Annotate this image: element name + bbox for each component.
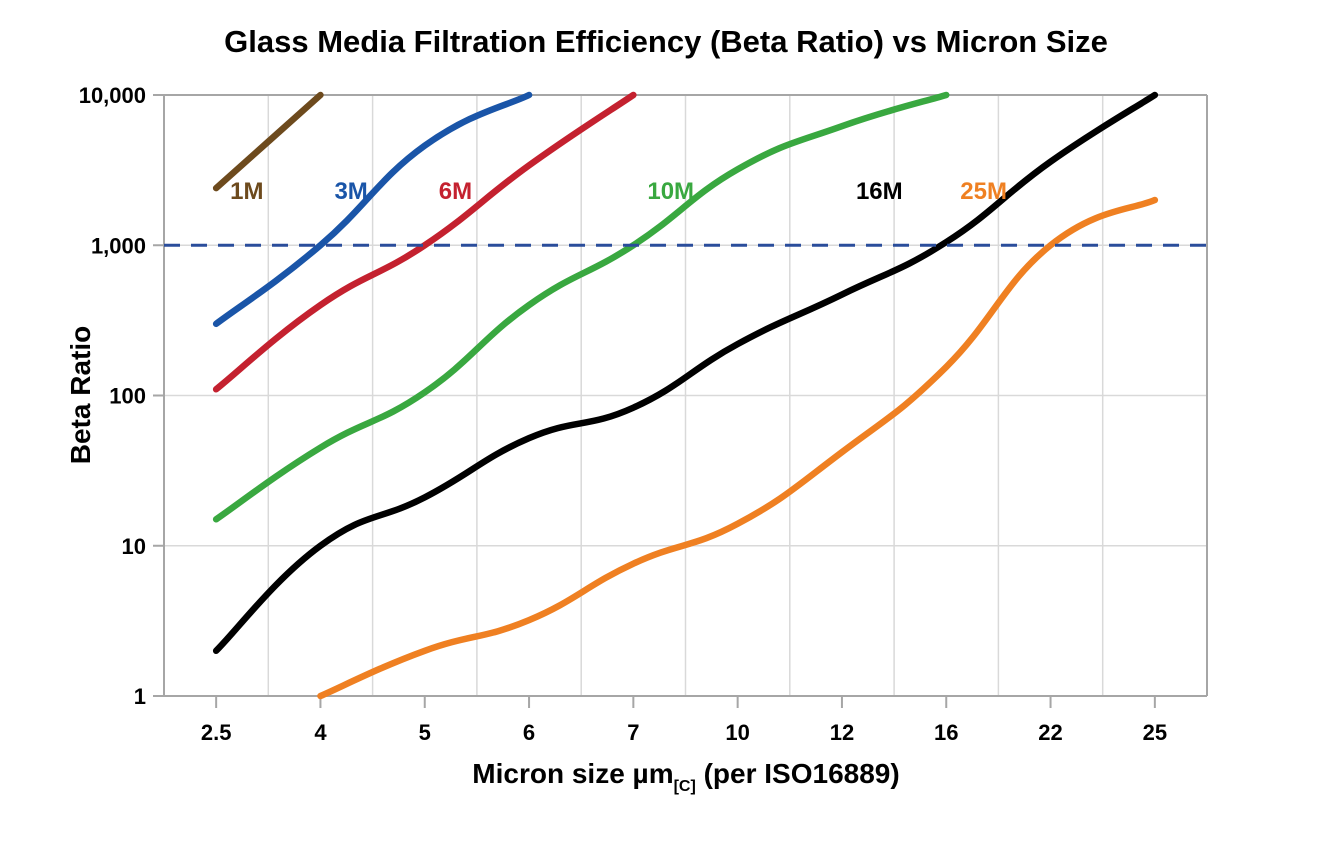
x-tick-label: 7 [627, 720, 639, 745]
y-tick-label: 10,000 [79, 83, 146, 108]
x-tick-label: 6 [523, 720, 535, 745]
y-tick-label: 1 [134, 684, 146, 709]
series-label-1m: 1M [230, 178, 263, 205]
x-tick-label: 25 [1143, 720, 1167, 745]
series-label-16m: 16M [856, 178, 903, 205]
x-tick-label: 12 [830, 720, 854, 745]
series-label-6m: 6M [439, 178, 472, 205]
x-tick-label: 4 [314, 720, 327, 745]
x-tick-label: 10 [725, 720, 749, 745]
series-label-3m: 3M [334, 178, 367, 205]
series-label-10m: 10M [647, 178, 694, 205]
y-axis-title: Beta Ratio [65, 326, 96, 464]
x-tick-labels-group: 2.545671012162225 [201, 720, 1167, 745]
x-tick-label: 5 [419, 720, 431, 745]
x-tick-label: 2.5 [201, 720, 232, 745]
series-label-25m: 25M [960, 178, 1007, 205]
chart-container: Glass Media Filtration Efficiency (Beta … [0, 0, 1332, 842]
y-tick-label: 1,000 [91, 233, 146, 258]
x-axis-title: Micron size µm[C] (per ISO16889) [472, 758, 899, 795]
chart-title: Glass Media Filtration Efficiency (Beta … [224, 24, 1108, 59]
y-tick-label: 10 [122, 534, 146, 559]
x-axis-title-subscript: [C] [674, 778, 696, 795]
x-axis-title-main: Micron size µm [472, 758, 673, 789]
x-axis-title-suffix: (per ISO16889) [696, 758, 900, 789]
x-tick-label: 22 [1038, 720, 1062, 745]
x-tick-label: 16 [934, 720, 958, 745]
y-tick-label: 100 [109, 384, 146, 409]
beta-ratio-line-chart: Glass Media Filtration Efficiency (Beta … [0, 0, 1332, 842]
